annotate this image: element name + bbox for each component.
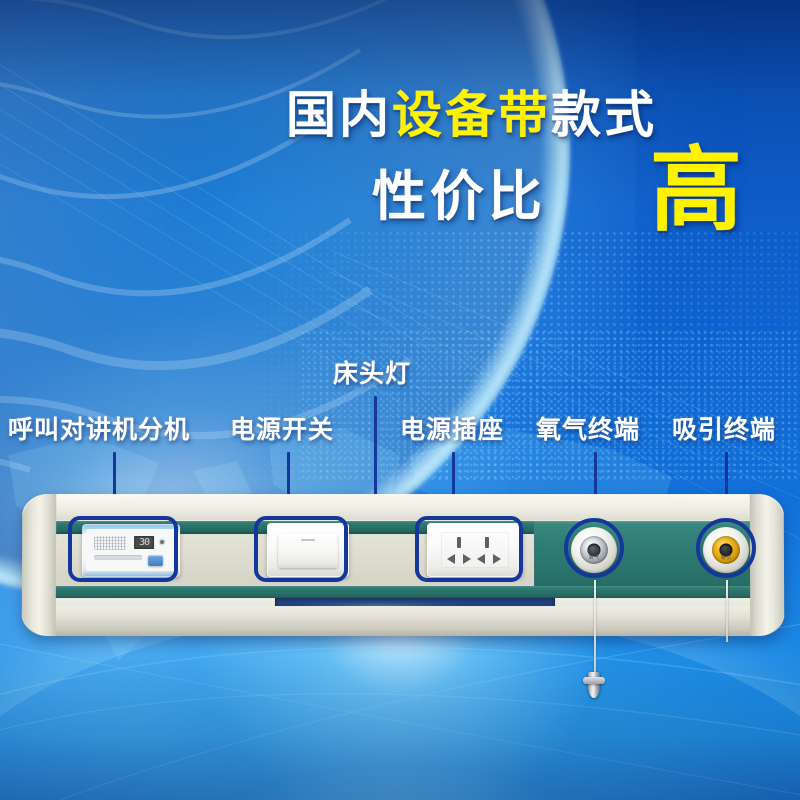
suction-hose-cord bbox=[726, 580, 728, 642]
callout-label-oxygen: 氧气终端 bbox=[536, 418, 640, 443]
callout-label-intercom: 呼叫对讲机分机 bbox=[8, 418, 190, 443]
panel-end-cap-left bbox=[22, 494, 57, 636]
callout-layer: 呼叫对讲机分机 电源开关 床头灯 电源插座 氧气终端 吸引终端 bbox=[0, 0, 800, 800]
callout-box-power-socket bbox=[415, 516, 523, 582]
callout-label-suction: 吸引终端 bbox=[672, 418, 776, 443]
callout-box-power-switch bbox=[254, 516, 348, 582]
callout-label-power-switch: 电源开关 bbox=[230, 418, 334, 443]
panel-bottom-bevel bbox=[22, 606, 785, 636]
oxygen-hose-connector bbox=[588, 672, 600, 698]
callout-label-bed-lamp: 床头灯 bbox=[333, 362, 411, 387]
banner-canvas: 国内设备带款式 性价比 高 呼叫对讲机分机 电源开关 床头灯 电源插座 氧气终端… bbox=[0, 0, 800, 800]
callout-circle-suction bbox=[696, 518, 756, 578]
panel-end-cap-right bbox=[750, 494, 785, 636]
callout-circle-oxygen bbox=[564, 518, 624, 578]
callout-label-power-socket: 电源插座 bbox=[400, 418, 504, 443]
callout-box-intercom bbox=[68, 516, 178, 582]
